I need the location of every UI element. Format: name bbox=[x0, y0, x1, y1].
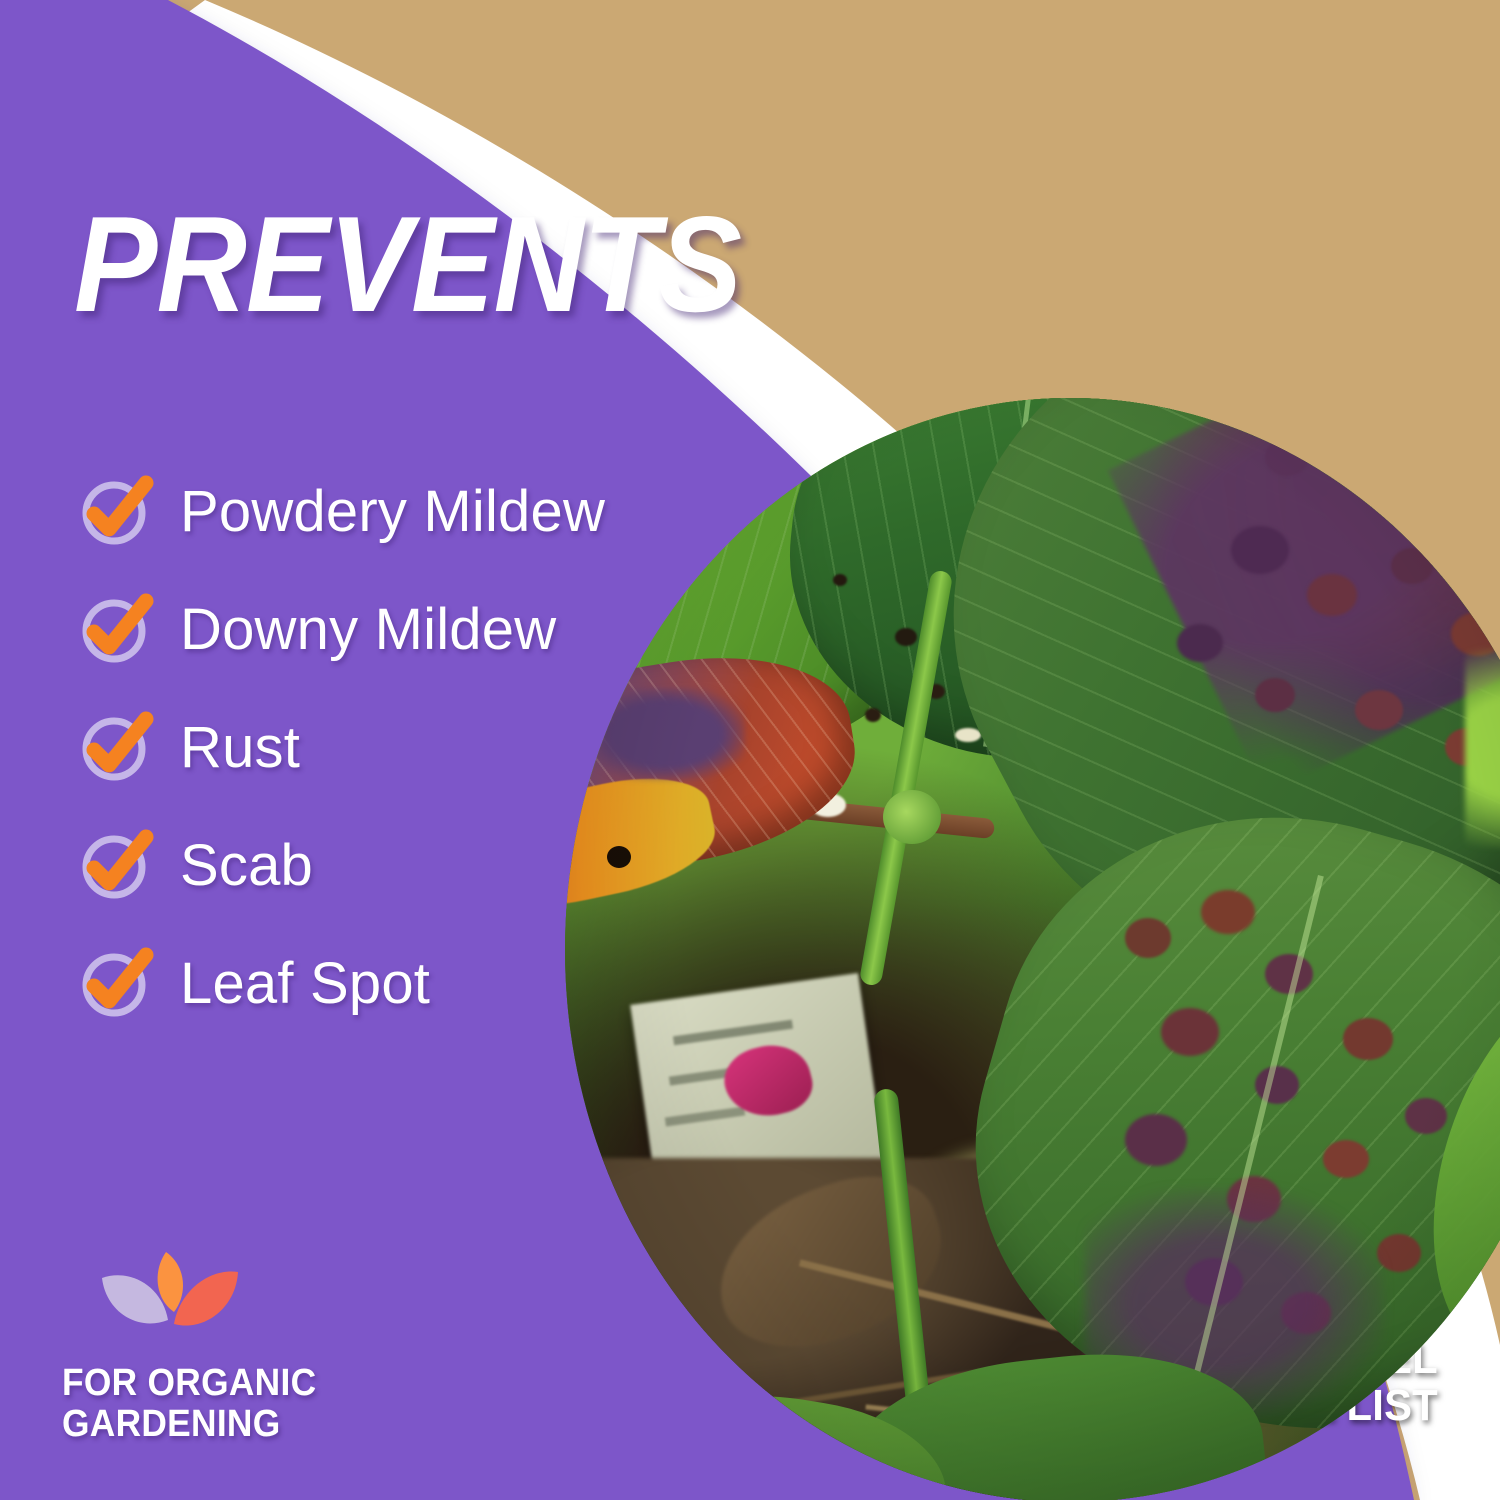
purple-overlap-wedge bbox=[0, 0, 1500, 1500]
poster-canvas: PREVENTS Powdery Mildew Downy Mildew bbox=[0, 0, 1500, 1500]
